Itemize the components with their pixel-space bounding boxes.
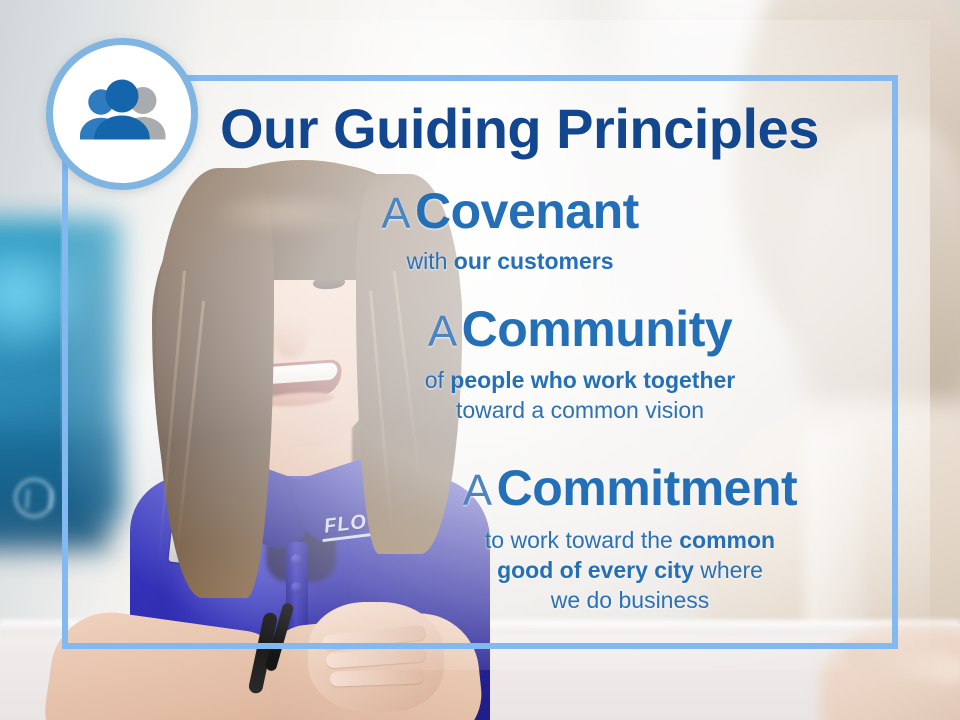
keyword-community: Community bbox=[462, 301, 733, 357]
nose bbox=[274, 300, 308, 358]
people-group-icon bbox=[74, 78, 170, 150]
principle-subtext-commitment: to work toward the commongood of every c… bbox=[370, 525, 890, 616]
principle-commitment: A Commitment to work toward the commongo… bbox=[370, 462, 890, 616]
article-commitment: A bbox=[463, 466, 492, 515]
principle-subtext-covenant: with our customers bbox=[300, 246, 720, 276]
keyword-commitment: Commitment bbox=[497, 460, 798, 516]
people-group-badge bbox=[46, 38, 198, 190]
keyword-covenant: Covenant bbox=[415, 183, 639, 239]
shirt-button-bottom bbox=[291, 582, 302, 593]
page-title: Our Guiding Principles bbox=[220, 96, 819, 161]
shirt-button-top bbox=[291, 554, 302, 565]
principle-subtext-community: of people who work togethertoward a comm… bbox=[330, 365, 830, 426]
principle-headline-covenant: A Covenant bbox=[300, 185, 720, 238]
principle-covenant: A Covenant with our customers bbox=[300, 185, 720, 276]
principle-headline-commitment: A Commitment bbox=[370, 462, 890, 515]
principle-community: A Community of people who work togethert… bbox=[330, 303, 830, 425]
principle-headline-community: A Community bbox=[330, 303, 830, 356]
blurred-vw-logo-icon bbox=[14, 478, 54, 518]
guiding-principles-graphic: FLOW AUTOMOTIVE FLOW bbox=[0, 0, 960, 720]
article-community: A bbox=[428, 307, 457, 356]
article-covenant: A bbox=[381, 189, 410, 238]
